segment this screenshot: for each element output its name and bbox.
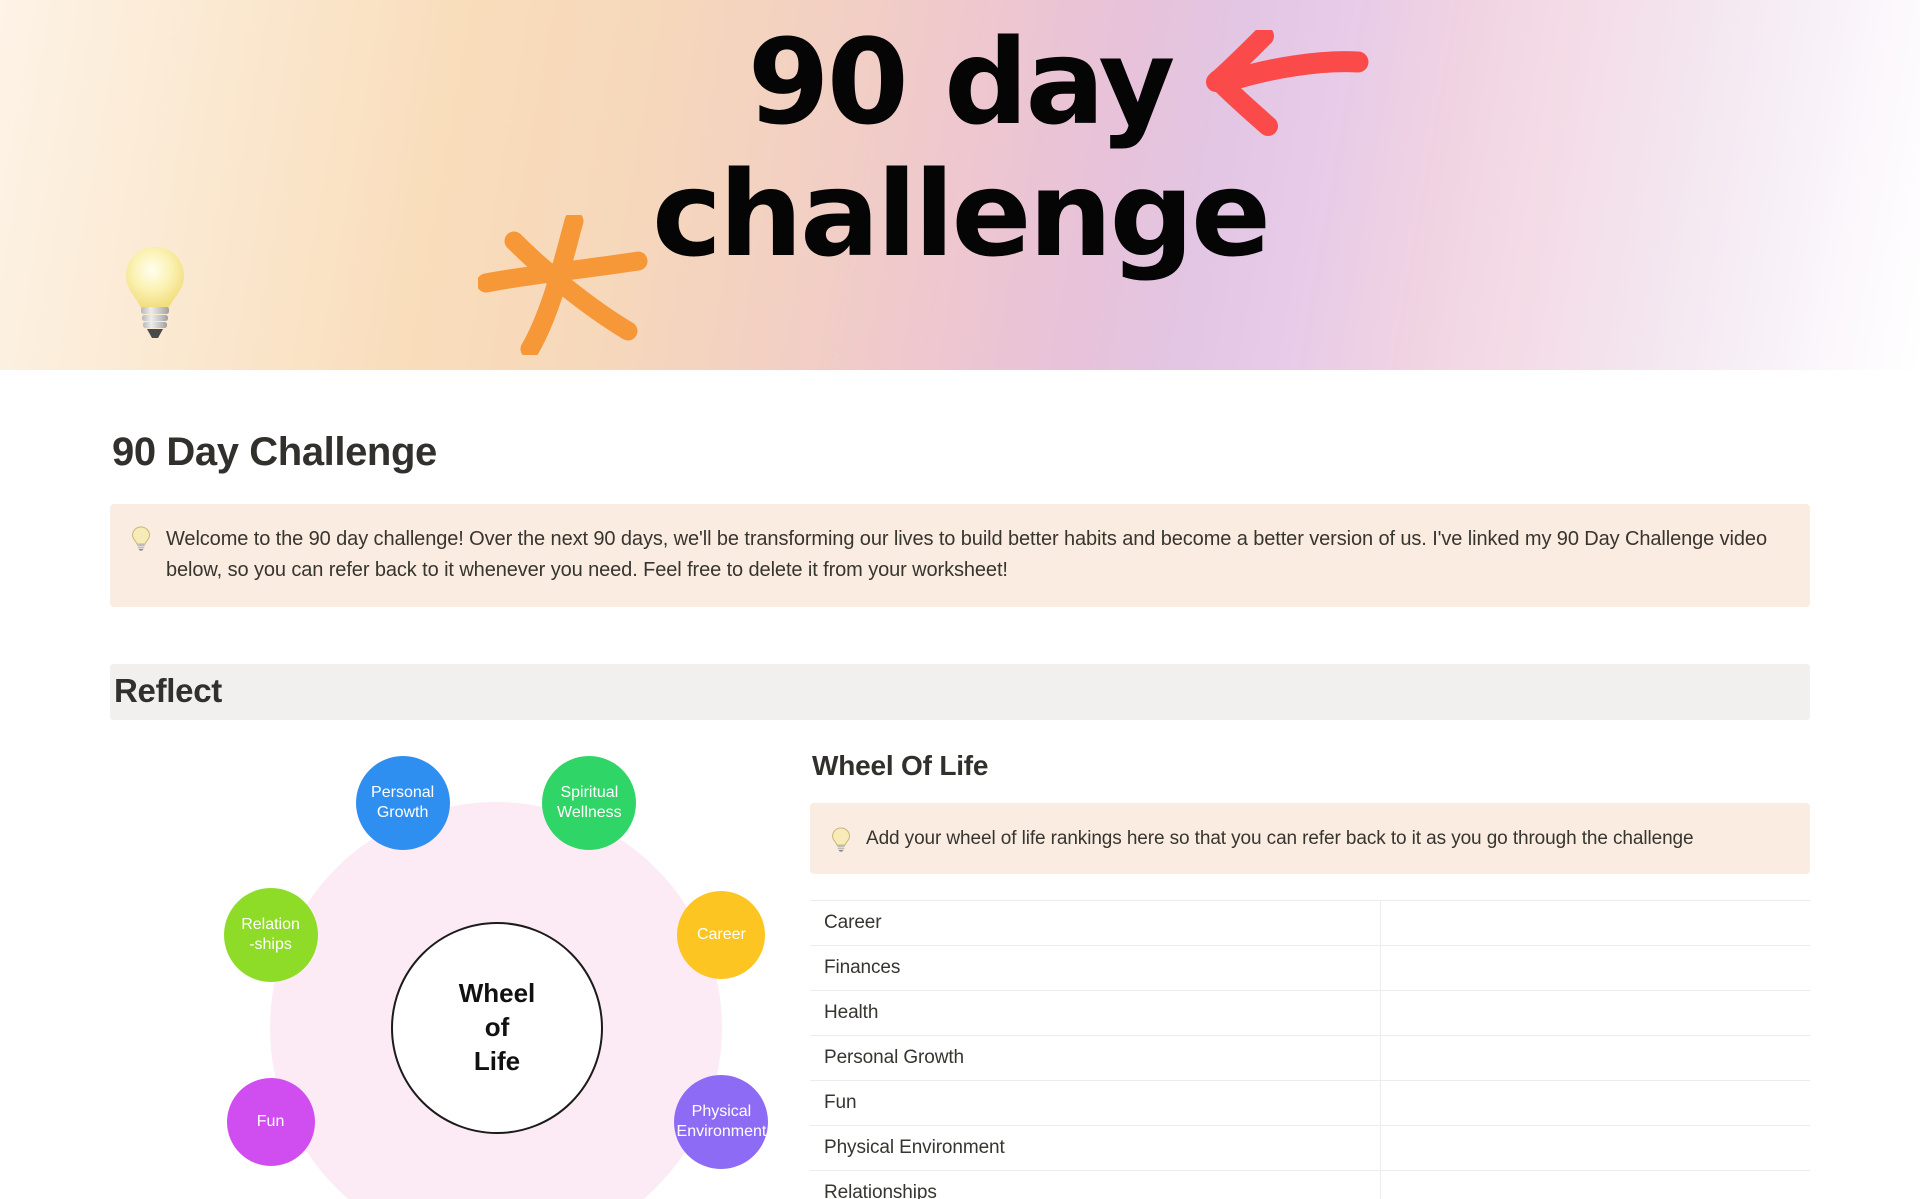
table-body: Career Finances Health Personal Gro [810, 901, 1810, 1199]
node-label-line1: Personal [371, 784, 434, 801]
table-row[interactable]: Physical Environment [810, 1126, 1810, 1171]
table-row[interactable]: Fun [810, 1081, 1810, 1126]
cover-title: 90 day challenge [0, 22, 1920, 275]
wheel-diagram-column: Personal Growth Spiritual Wellness Caree… [110, 750, 780, 1199]
node-label-line2: Environment [677, 1123, 767, 1140]
wheel-of-life-callout: Add your wheel of life rankings here so … [810, 803, 1810, 874]
row-value[interactable] [1380, 1081, 1810, 1126]
red-arrow-icon [1190, 30, 1370, 140]
section-heading-reflect: Reflect [112, 672, 1796, 710]
row-value[interactable] [1380, 1171, 1810, 1199]
row-label[interactable]: Career [810, 901, 1380, 946]
lightbulb-icon [830, 826, 852, 852]
node-personal-growth[interactable]: Personal Growth [356, 756, 450, 850]
wheel-of-life-table: Career Finances Health Personal Gro [810, 900, 1810, 1199]
lightbulb-icon [130, 525, 152, 551]
wheel-hub-line1: Wheel [459, 977, 536, 1011]
row-value[interactable] [1380, 946, 1810, 991]
node-physical-environment[interactable]: Physical Environment [674, 1075, 768, 1169]
page-body: 90 Day Challenge Welcome to the 90 day c… [0, 430, 1920, 1199]
node-label-line2: Wellness [557, 804, 622, 821]
lightbulb-emoji-icon [122, 244, 188, 340]
node-label-line1: Career [697, 925, 746, 945]
cover-title-line-1: 90 day [748, 13, 1173, 151]
row-label[interactable]: Personal Growth [810, 1036, 1380, 1081]
node-fun[interactable]: Fun [227, 1078, 315, 1166]
node-career[interactable]: Career [677, 891, 765, 979]
row-value[interactable] [1380, 901, 1810, 946]
row-value[interactable] [1380, 991, 1810, 1036]
node-relationships[interactable]: Relation -ships [224, 888, 318, 982]
intro-callout-text: Welcome to the 90 day challenge! Over th… [166, 524, 1788, 585]
orange-star-icon [478, 215, 653, 355]
wheel-hub-line3: Life [474, 1045, 520, 1079]
table-row[interactable]: Career [810, 901, 1810, 946]
row-value[interactable] [1380, 1126, 1810, 1171]
wheel-hub: Wheel of Life [391, 922, 603, 1134]
wheel-of-life-callout-text: Add your wheel of life rankings here so … [866, 824, 1693, 853]
page-cover-banner: 90 day challenge [0, 0, 1920, 370]
table-row[interactable]: Personal Growth [810, 1036, 1810, 1081]
node-label-line1: Physical [692, 1103, 752, 1120]
cover-title-line-2: challenge [0, 154, 1920, 274]
table-row[interactable]: Finances [810, 946, 1810, 991]
row-label[interactable]: Health [810, 991, 1380, 1036]
node-label-line1: Spiritual [560, 784, 618, 801]
node-label-line1: Relation [241, 916, 300, 933]
intro-callout: Welcome to the 90 day challenge! Over th… [110, 504, 1810, 607]
node-label-line2: -ships [249, 936, 292, 953]
section-heading-band: Reflect [110, 664, 1810, 720]
row-value[interactable] [1380, 1036, 1810, 1081]
node-label-line2: Growth [377, 804, 429, 821]
wheel-hub-line2: of [485, 1011, 510, 1045]
wheel-of-life-diagram: Personal Growth Spiritual Wellness Caree… [110, 750, 730, 1199]
wheel-of-life-title: Wheel Of Life [810, 750, 1810, 782]
row-label[interactable]: Relationships [810, 1171, 1380, 1199]
row-label[interactable]: Physical Environment [810, 1126, 1380, 1171]
node-spiritual-wellness[interactable]: Spiritual Wellness [542, 756, 636, 850]
node-label-line1: Fun [257, 1112, 285, 1132]
table-row[interactable]: Relationships [810, 1171, 1810, 1199]
reflect-columns: Personal Growth Spiritual Wellness Caree… [110, 750, 1810, 1199]
wheel-of-life-panel: Wheel Of Life Add your wheel of life ran… [780, 750, 1810, 1199]
table-row[interactable]: Health [810, 991, 1810, 1036]
row-label[interactable]: Finances [810, 946, 1380, 991]
row-label[interactable]: Fun [810, 1081, 1380, 1126]
page-title: 90 Day Challenge [110, 430, 1810, 475]
content-container: 90 Day Challenge Welcome to the 90 day c… [110, 430, 1810, 1199]
